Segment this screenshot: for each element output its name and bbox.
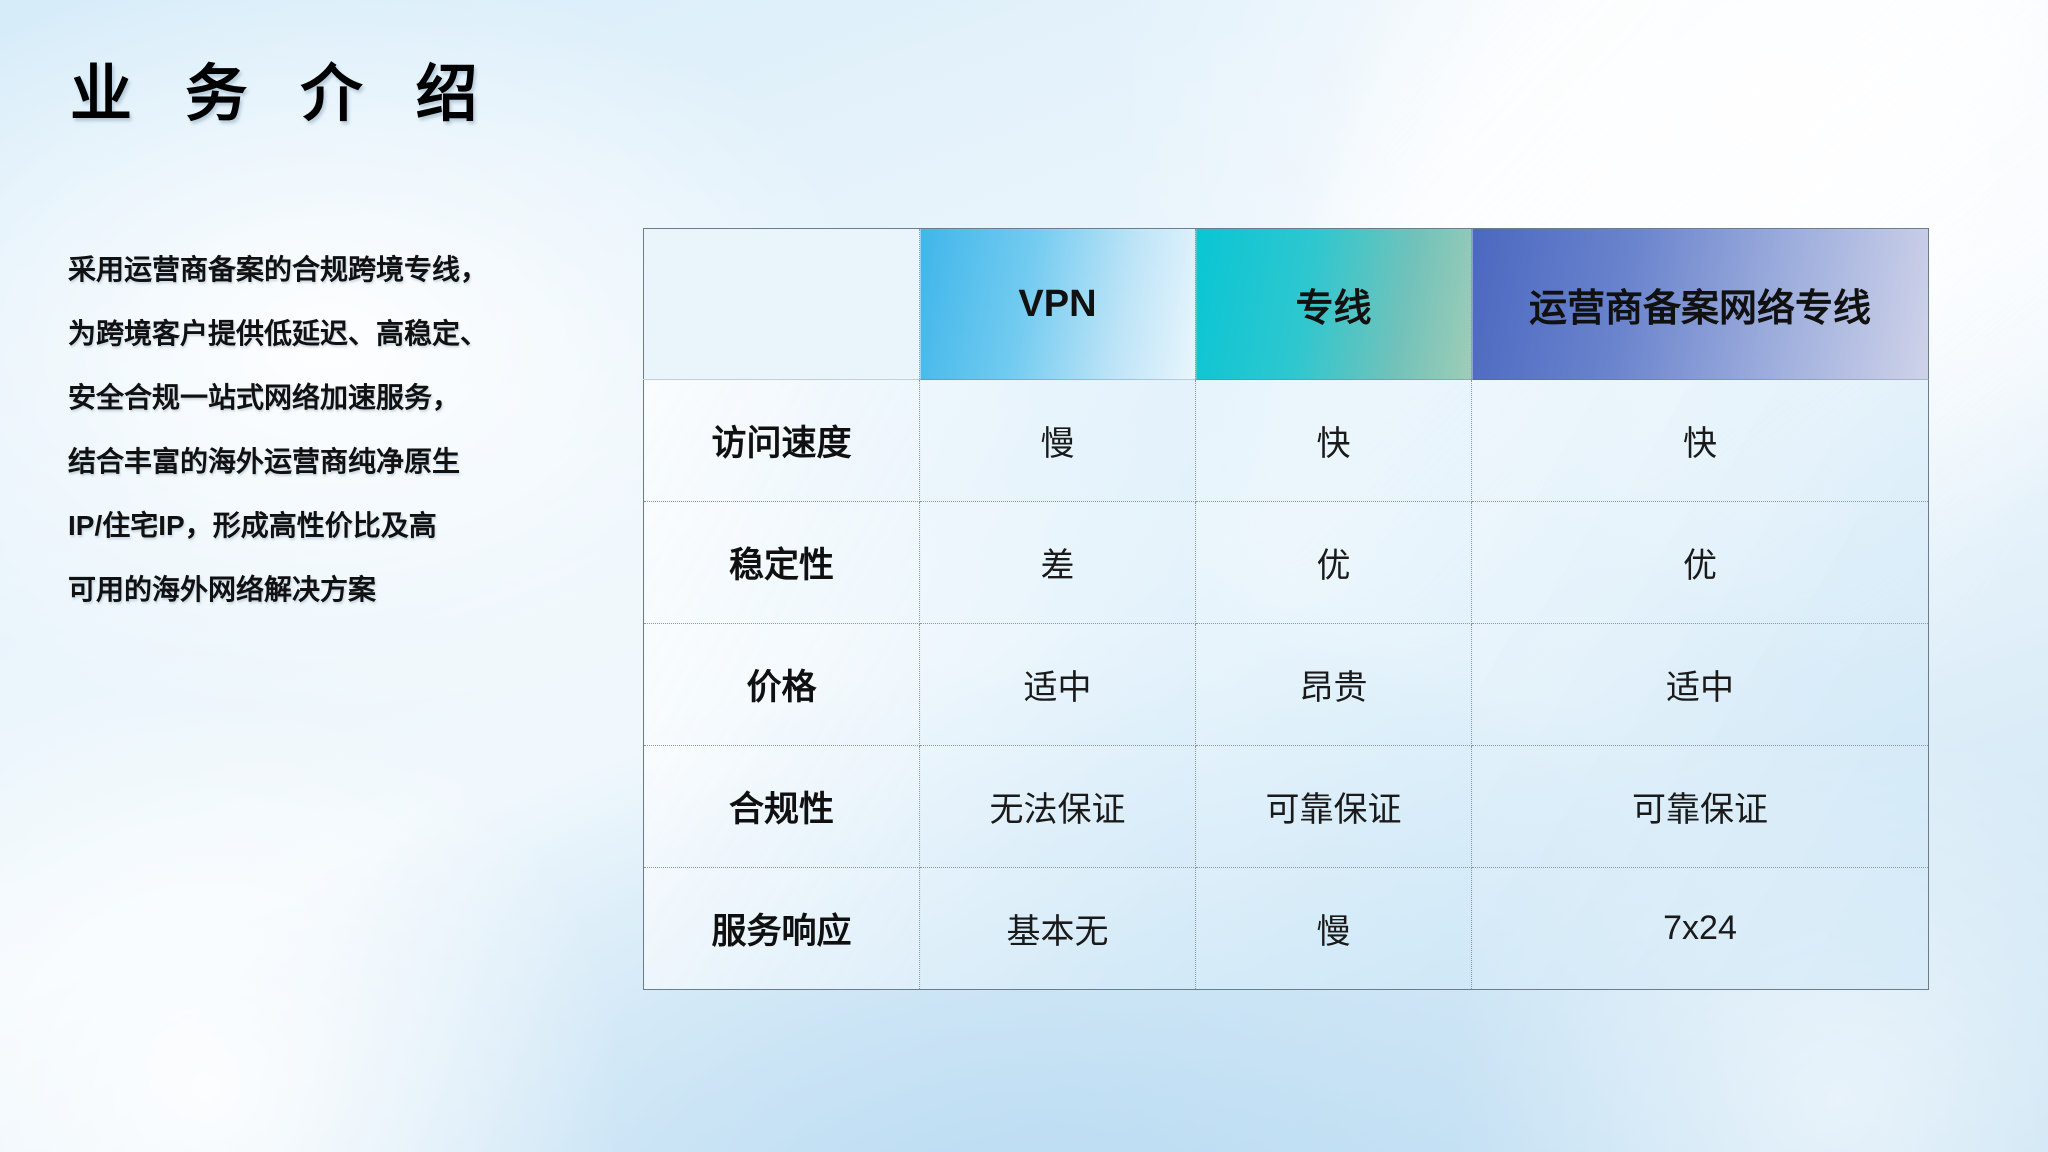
- cell-filed: 7x24: [1472, 868, 1929, 990]
- cell-line: 慢: [1196, 868, 1472, 990]
- table-row: 价格 适中 昂贵 适中: [644, 624, 1929, 746]
- row-label-stability: 稳定性: [644, 502, 920, 624]
- table-row: 合规性 无法保证 可靠保证 可靠保证: [644, 746, 1929, 868]
- cell-filed: 可靠保证: [1472, 746, 1929, 868]
- cell-vpn: 无法保证: [920, 746, 1196, 868]
- cell-line: 昂贵: [1196, 624, 1472, 746]
- intro-line: 可用的海外网络解决方案: [68, 558, 628, 622]
- table-header: VPN 专线 运营商备案网络专线: [644, 229, 1929, 380]
- slide-canvas: 业 务 介 绍 采用运营商备案的合规跨境专线， 为跨境客户提供低延迟、高稳定、 …: [0, 0, 2048, 1152]
- row-label-price: 价格: [644, 624, 920, 746]
- table-header-blank: [644, 229, 920, 380]
- intro-line: 为跨境客户提供低延迟、高稳定、: [68, 302, 628, 366]
- row-label-service-response: 服务响应: [644, 868, 920, 990]
- table-header-line: 专线: [1196, 229, 1472, 380]
- row-label-access-speed: 访问速度: [644, 380, 920, 502]
- cell-line: 可靠保证: [1196, 746, 1472, 868]
- cell-vpn: 适中: [920, 624, 1196, 746]
- table-row: 访问速度 慢 快 快: [644, 380, 1929, 502]
- cell-filed: 优: [1472, 502, 1929, 624]
- cell-line: 快: [1196, 380, 1472, 502]
- table-body: 访问速度 慢 快 快 稳定性 差 优 优 价格 适中 昂贵 适中: [644, 380, 1929, 990]
- intro-line: 安全合规一站式网络加速服务，: [68, 366, 628, 430]
- cell-filed: 快: [1472, 380, 1929, 502]
- corner-glow-decoration: [0, 712, 660, 1152]
- table-row: 稳定性 差 优 优: [644, 502, 1929, 624]
- row-label-compliance: 合规性: [644, 746, 920, 868]
- table-header-row: VPN 专线 运营商备案网络专线: [644, 229, 1929, 380]
- cell-filed: 适中: [1472, 624, 1929, 746]
- table-row: 服务响应 基本无 慢 7x24: [644, 868, 1929, 990]
- comparison-table: VPN 专线 运营商备案网络专线 访问速度 慢 快 快 稳定性 差 优 优: [643, 228, 1929, 990]
- table-header-filed: 运营商备案网络专线: [1472, 229, 1929, 380]
- cell-vpn: 差: [920, 502, 1196, 624]
- cell-line: 优: [1196, 502, 1472, 624]
- intro-line: 采用运营商备案的合规跨境专线，: [68, 238, 628, 302]
- page-title: 业 务 介 绍: [70, 62, 496, 127]
- intro-paragraph: 采用运营商备案的合规跨境专线， 为跨境客户提供低延迟、高稳定、 安全合规一站式网…: [68, 238, 628, 622]
- table-header-vpn: VPN: [920, 229, 1196, 380]
- cell-vpn: 慢: [920, 380, 1196, 502]
- intro-line: 结合丰富的海外运营商纯净原生: [68, 430, 628, 494]
- intro-line: IP/住宅IP，形成高性价比及高: [68, 494, 628, 558]
- cell-vpn: 基本无: [920, 868, 1196, 990]
- comparison-table-wrapper: VPN 专线 运营商备案网络专线 访问速度 慢 快 快 稳定性 差 优 优: [643, 228, 1928, 990]
